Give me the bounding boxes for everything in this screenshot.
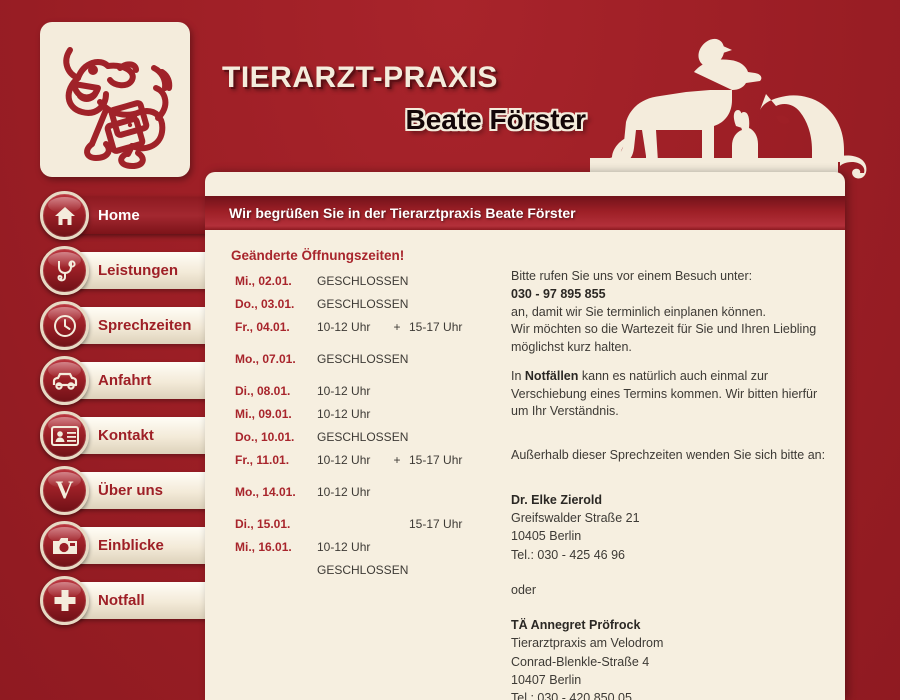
cartoon-dog-logo-icon <box>40 22 190 177</box>
hours-morning-cell: 10-12 Uhr <box>317 384 385 407</box>
contact-city: 10405 Berlin <box>511 529 581 543</box>
call-line3: Wir möchten so die Wartezeit für Sie und… <box>511 322 816 336</box>
sidebar-item-ueber-uns[interactable]: Über uns V <box>0 463 210 518</box>
hours-afternoon-cell: 15-17 Uhr <box>409 517 497 540</box>
table-row: Mo., 07.01.GESCHLOSSEN <box>229 352 497 384</box>
hours-day-cell: Mi., 02.01. <box>229 274 317 297</box>
emergency-bold: Notfällen <box>525 369 578 383</box>
contact-practice: Tierarztpraxis am Velodrom <box>511 636 663 650</box>
sidebar-item-label: Sprechzeiten <box>98 317 191 334</box>
hours-day-cell: Mo., 07.01. <box>229 352 317 384</box>
hours-plus-cell <box>385 485 409 517</box>
content-header-title: Wir begrüßen Sie in der Tierarztpraxis B… <box>229 205 576 221</box>
emergency-pre: In <box>511 369 525 383</box>
call-intro: Bitte rufen Sie uns vor einem Besuch unt… <box>511 269 752 283</box>
sidebar-item-label: Home <box>98 207 140 224</box>
sidebar-item-label: Anfahrt <box>98 372 151 389</box>
sidebar-item-anfahrt[interactable]: Anfahrt <box>0 353 210 408</box>
hours-afternoon-cell <box>409 540 497 563</box>
hours-closed-cell: GESCHLOSSEN <box>317 352 497 384</box>
hours-morning-cell: 10-12 Uhr <box>317 320 385 352</box>
hours-afternoon-cell <box>409 384 497 407</box>
hours-morning-cell: 10-12 Uhr <box>317 485 385 517</box>
hours-day-cell: Di., 15.01. <box>229 517 317 540</box>
hours-closed-cell: GESCHLOSSEN <box>317 297 497 320</box>
hours-plus-cell <box>385 384 409 407</box>
table-row: Do., 10.01.GESCHLOSSEN <box>229 430 497 453</box>
sidebar-item-sprechzeiten[interactable]: Sprechzeiten <box>0 298 210 353</box>
hours-day-cell <box>229 563 317 586</box>
hours-afternoon-cell: 15-17 Uhr <box>409 453 497 485</box>
contact-street: Greifswalder Straße 21 <box>511 511 640 525</box>
hours-closed-cell: GESCHLOSSEN <box>317 274 497 297</box>
hours-closed-cell: GESCHLOSSEN <box>317 563 497 586</box>
sidebar-item-label: Notfall <box>98 592 145 609</box>
site-header: TIERARZT-PRAXIS Beate Förster <box>0 0 900 180</box>
sidebar-item-notfall[interactable]: Notfall <box>0 573 210 628</box>
hours-plus-cell: + <box>385 453 409 485</box>
hours-morning-cell: 10-12 Uhr <box>317 407 385 430</box>
contact-proefrock: TÄ Annegret Pröfrock Tierarztpraxis am V… <box>511 616 827 700</box>
stethoscope-icon <box>40 246 89 295</box>
sidebar-item-label: Kontakt <box>98 427 154 444</box>
practice-phone: 030 - 97 895 855 <box>511 287 606 301</box>
sidebar-item-einblicke[interactable]: Einblicke <box>0 518 210 573</box>
opening-hours-heading: Geänderte Öffnungszeiten! <box>231 248 497 263</box>
call-line2: an, damit wir Sie terminlich einplanen k… <box>511 305 766 319</box>
hours-day-cell: Fr., 04.01. <box>229 320 317 352</box>
contact-city: 10407 Berlin <box>511 673 581 687</box>
contact-phone: Tel.: 030 - 425 46 96 <box>511 548 625 562</box>
hours-plus-cell <box>385 407 409 430</box>
hours-closed-cell: GESCHLOSSEN <box>317 430 497 453</box>
opening-hours-table: Mi., 02.01.GESCHLOSSENDo., 03.01.GESCHLO… <box>229 274 497 586</box>
info-column: Bitte rufen Sie uns vor einem Besuch unt… <box>497 248 827 700</box>
table-row: Fr., 04.01.10-12 Uhr+15-17 Uhr <box>229 320 497 352</box>
contact-name: TÄ Annegret Pröfrock <box>511 616 827 634</box>
table-row: Di., 08.01.10-12 Uhr <box>229 384 497 407</box>
main-content-panel: Wir begrüßen Sie in der Tierarztpraxis B… <box>205 172 845 700</box>
sidebar-item-kontakt[interactable]: Kontakt <box>0 408 210 463</box>
car-icon <box>40 356 89 405</box>
hours-day-cell: Mo., 14.01. <box>229 485 317 517</box>
table-row: Fr., 11.01.10-12 Uhr+15-17 Uhr <box>229 453 497 485</box>
hours-day-cell: Do., 03.01. <box>229 297 317 320</box>
cross-icon <box>40 576 89 625</box>
content-header-bar: Wir begrüßen Sie in der Tierarztpraxis B… <box>205 196 845 230</box>
hours-plus-cell <box>385 540 409 563</box>
hours-afternoon-cell <box>409 407 497 430</box>
opening-hours-column: Geänderte Öffnungszeiten! Mi., 02.01.GES… <box>229 248 497 700</box>
home-icon <box>40 191 89 240</box>
contact-zierold: Dr. Elke Zierold Greifswalder Straße 21 … <box>511 491 827 564</box>
contact-street: Conrad-Blenkle-Straße 4 <box>511 655 649 669</box>
sidebar-item-home[interactable]: Home <box>0 188 210 243</box>
call-line4: möglichst kurz halten. <box>511 340 632 354</box>
hours-day-cell: Mi., 16.01. <box>229 540 317 563</box>
table-row: GESCHLOSSEN <box>229 563 497 586</box>
content-body: Geänderte Öffnungszeiten! Mi., 02.01.GES… <box>205 230 845 700</box>
table-row: Mi., 09.01.10-12 Uhr <box>229 407 497 430</box>
contact-name: Dr. Elke Zierold <box>511 491 827 509</box>
spacer <box>511 564 827 581</box>
page-title: TIERARZT-PRAXIS <box>222 62 622 94</box>
page-subtitle: Beate Förster <box>222 104 622 136</box>
hours-afternoon-cell: 15-17 Uhr <box>409 320 497 352</box>
main-navigation: Home Leistungen Sprechzeiten <box>0 188 210 628</box>
hours-morning-cell: 10-12 Uhr <box>317 453 385 485</box>
letter-v-icon: V <box>40 466 89 515</box>
hours-plus-cell: + <box>385 320 409 352</box>
outside-hours-paragraph: Außerhalb dieser Sprechzeiten wenden Sie… <box>511 447 827 465</box>
hours-plus-cell <box>385 517 409 540</box>
spacer <box>511 599 827 616</box>
sidebar-item-label: Einblicke <box>98 537 164 554</box>
sidebar-item-leistungen[interactable]: Leistungen <box>0 243 210 298</box>
hours-morning-cell: 10-12 Uhr <box>317 540 385 563</box>
table-row: Mo., 14.01.10-12 Uhr <box>229 485 497 517</box>
hours-morning-cell <box>317 517 385 540</box>
table-row: Mi., 16.01.10-12 Uhr <box>229 540 497 563</box>
sidebar-item-label: Über uns <box>98 482 163 499</box>
camera-icon <box>40 521 89 570</box>
hours-afternoon-cell <box>409 485 497 517</box>
hours-day-cell: Mi., 09.01. <box>229 407 317 430</box>
or-label: oder <box>511 581 827 599</box>
contact-phone: Tel.: 030 - 420 850 05 <box>511 691 632 700</box>
id-card-icon <box>40 411 89 460</box>
table-row: Do., 03.01.GESCHLOSSEN <box>229 297 497 320</box>
header-titles: TIERARZT-PRAXIS Beate Förster <box>222 62 622 136</box>
hours-day-cell: Di., 08.01. <box>229 384 317 407</box>
clock-icon <box>40 301 89 350</box>
hours-day-cell: Do., 10.01. <box>229 430 317 453</box>
table-row: Di., 15.01.15-17 Uhr <box>229 517 497 540</box>
hours-day-cell: Fr., 11.01. <box>229 453 317 485</box>
emergency-paragraph: In Notfällen kann es natürlich auch einm… <box>511 368 827 421</box>
call-info-paragraph: Bitte rufen Sie uns vor einem Besuch unt… <box>511 268 827 357</box>
animal-silhouettes-graphic <box>590 30 900 190</box>
practice-logo[interactable] <box>40 22 190 177</box>
sidebar-item-label: Leistungen <box>98 262 178 279</box>
table-row: Mi., 02.01.GESCHLOSSEN <box>229 274 497 297</box>
